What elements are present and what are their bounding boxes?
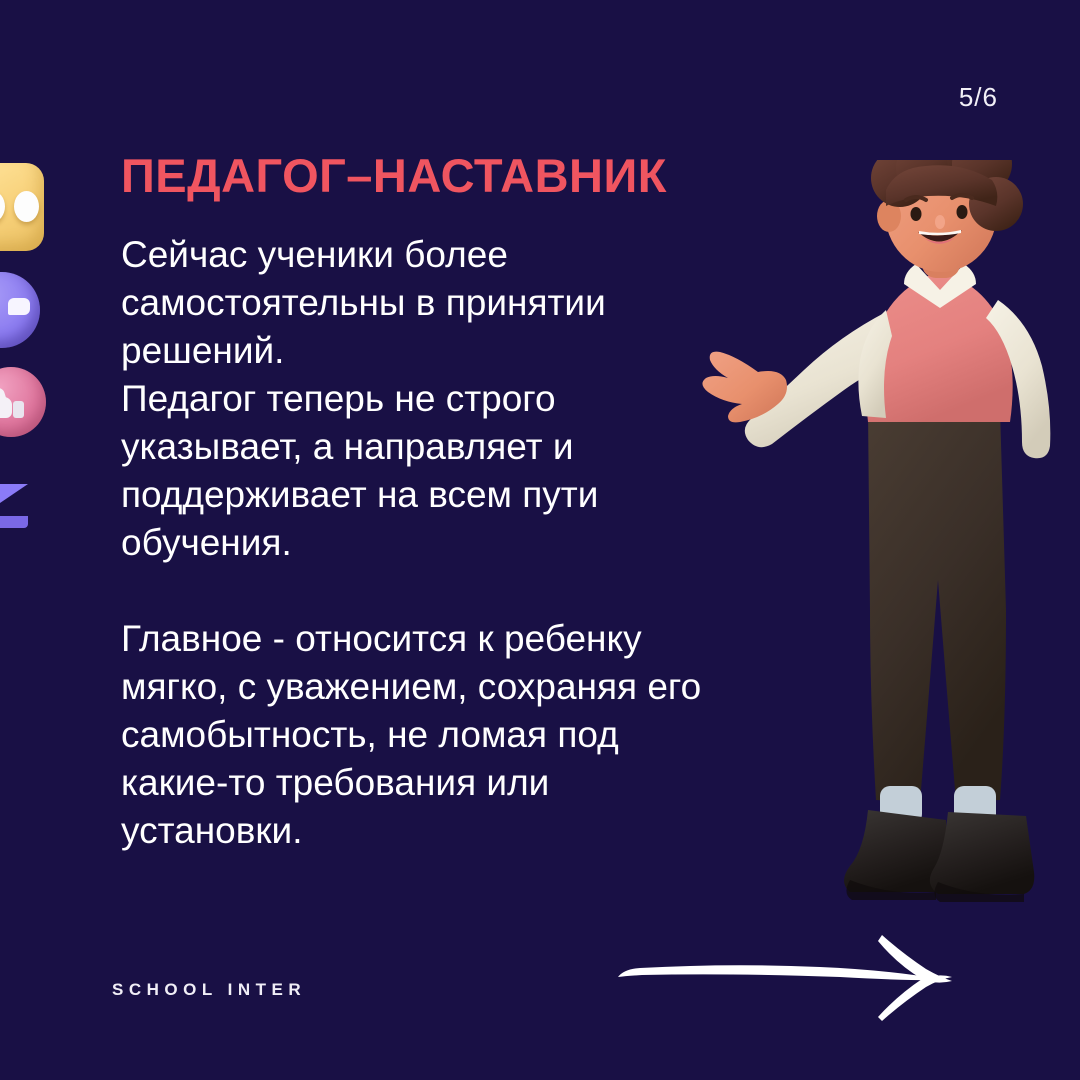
emoji-eye-right-icon [14,191,39,222]
teacher-illustration [700,160,1080,930]
hand-drawn-right-arrow-icon [610,925,990,1035]
body-copy: Сейчас ученики более самостоятельны в пр… [121,231,781,855]
brand-logo-text: SCHOOL INTER [112,980,306,1000]
paragraph-1: Сейчас ученики более самостоятельны в пр… [121,231,781,567]
emoji-face-icon [0,163,44,251]
speech-bubble-glyph-icon [8,298,30,315]
page-counter: 5/6 [959,82,998,113]
speech-bubble-icon [0,272,40,348]
thumbs-up-icon [0,367,46,437]
thumbs-up-glyph-icon [0,388,24,418]
emoji-eye-left-icon [0,191,5,222]
page-title: ПЕДАГОГ–НАСТАВНИК [121,148,667,203]
thumb-box-shape [13,401,24,418]
paragraph-2: Главное - относится к ребенку мягко, с у… [121,615,781,855]
cursor-base-shape [0,516,28,528]
slide-canvas: 5/6 ПЕДАГОГ–НАСТАВНИК Сейчас ученики бол… [0,0,1080,1080]
cursor-arrow-icon [0,484,46,536]
